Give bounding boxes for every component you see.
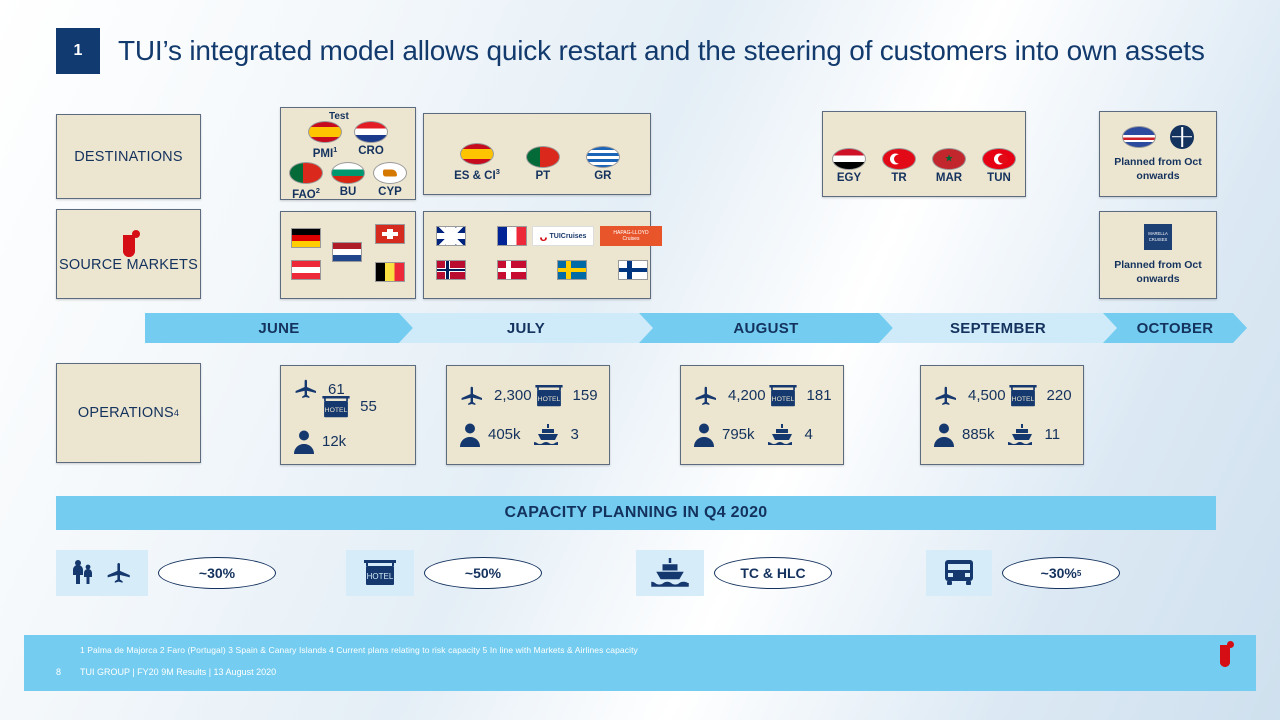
ops-flights: 2,300 [459, 384, 532, 408]
ops-hotels: HOTEL 159 [532, 383, 598, 409]
tui-logo-icon [123, 235, 135, 251]
ship-icon [636, 550, 704, 596]
slide-title-row: 1 TUI’s integrated model allows quick re… [56, 28, 1205, 74]
globe-icon [1170, 125, 1194, 149]
slide-footer: 1 Palma de Majorca 2 Faro (Portugal) 3 S… [24, 635, 1256, 691]
footer-meta-text: TUI GROUP | FY20 9M Results | 13 August … [80, 667, 276, 677]
october-source-note: Planned from Oct onwards [1100, 258, 1216, 286]
svg-text:HOTEL: HOTEL [367, 572, 394, 581]
portugal-flag [289, 162, 323, 184]
destinations-label: DESTINATIONS [57, 115, 200, 198]
destination-item: GR [586, 146, 620, 182]
ops-customers: 12k [293, 429, 348, 454]
tui-footer-logo [1220, 645, 1230, 663]
timeline-august[interactable]: AUGUST [639, 313, 893, 343]
operations-label-sup: 4 [174, 408, 179, 418]
capacity-item-cruises: TC & HLC [636, 550, 926, 596]
destination-item: FAO2 [289, 162, 323, 201]
portugal-flag [526, 146, 560, 168]
timeline-july[interactable]: JULY [399, 313, 653, 343]
ops-hotels: HOTEL 181 [766, 383, 832, 409]
operations-july-panel: 2,300 HOTEL 159 405k 3 [446, 365, 610, 465]
greece-flag [586, 146, 620, 168]
operations-label-panel: OPERATIONS4 [56, 363, 201, 463]
svg-text:HOTEL: HOTEL [771, 396, 794, 403]
operations-june-panel: 61 HOTEL 55 12k [280, 365, 416, 465]
ops-customers: 885k [933, 422, 1006, 447]
test-badge-label: Test [329, 111, 349, 122]
destination-item: ★ MAR [932, 148, 966, 184]
ops-ships: 11 [1006, 423, 1072, 447]
month-timeline: JUNE JULY AUGUST SEPTEMBER OCTOBER [145, 313, 1233, 343]
destination-item: CRO [354, 121, 388, 160]
sweden-flag [557, 260, 587, 280]
capacity-banner: CAPACITY PLANNING IN Q4 2020 [56, 496, 1216, 530]
cyprus-flag [373, 162, 407, 184]
footnotes: 1 Palma de Majorca 2 Faro (Portugal) 3 S… [80, 645, 638, 655]
capacity-value-airlines: ~30% [158, 557, 276, 589]
morocco-flag: ★ [932, 148, 966, 170]
destinations-label-panel: DESTINATIONS [56, 114, 201, 199]
source-markets-july-panel: ᴗTUICruises HAPAG-LLOYD Cruises [423, 211, 651, 299]
slide-canvas: 1 TUI’s integrated model allows quick re… [0, 0, 1280, 720]
destination-item: CYP [373, 162, 407, 201]
ops-grid: 4,200 HOTEL 181 795k 4 [681, 366, 843, 464]
destination-item: TR [882, 148, 916, 184]
source-markets-label-panel: SOURCE MARKETS [56, 209, 201, 299]
timeline-october[interactable]: OCTOBER [1103, 313, 1247, 343]
destinations-july-panel: ES & CI3 PT GR [423, 113, 651, 195]
timeline-september[interactable]: SEPTEMBER [879, 313, 1117, 343]
uk-flag [436, 226, 466, 246]
austria-flag [291, 260, 321, 280]
footer-meta: 8TUI GROUP | FY20 9M Results | 13 August… [48, 667, 276, 677]
destination-item: EGY [832, 148, 866, 184]
ops-hotels: HOTEL 55 [293, 394, 403, 420]
croatia-flag [354, 121, 388, 143]
ops-grid: 2,300 HOTEL 159 405k 3 [447, 366, 609, 464]
ops-ships: 3 [532, 423, 598, 447]
destinations-june-panel: Test PMI1 CRO FAO2 BU [280, 107, 416, 200]
finland-flag [618, 260, 648, 280]
tui-cruises-logo: ᴗTUICruises [532, 226, 594, 246]
hapag-lloyd-logo: HAPAG-LLOYD Cruises [600, 226, 662, 246]
denmark-flag [497, 260, 527, 280]
turkey-flag [882, 148, 916, 170]
ops-hotels: HOTEL 220 [1006, 383, 1072, 409]
page-title: TUI’s integrated model allows quick rest… [118, 35, 1205, 67]
ops-flights: 4,200 [693, 384, 766, 408]
destination-item: TUN [982, 148, 1016, 184]
capacity-row: ~30% HOTEL ~50% TC & HLC ~30%5 [56, 550, 1216, 596]
destination-item: ES & CI3 [454, 143, 500, 182]
destinations-october-panel: Planned from Oct onwards [1099, 111, 1217, 197]
netherlands-flag [332, 242, 362, 262]
svg-text:HOTEL: HOTEL [1011, 396, 1034, 403]
october-destinations-note: Planned from Oct onwards [1100, 155, 1216, 183]
spain-flag [308, 121, 342, 143]
ops-ships: 4 [766, 423, 832, 447]
source-markets-october-panel: MARELLA CRUISES Planned from Oct onwards [1099, 211, 1217, 299]
france-flag [497, 226, 527, 246]
switzerland-flag [375, 224, 405, 244]
svg-text:HOTEL: HOTEL [325, 407, 348, 414]
source-markets-june-panel [280, 211, 416, 299]
destination-item: BU [331, 162, 365, 201]
norway-flag [436, 260, 466, 280]
capacity-item-buses: ~30%5 [926, 550, 1216, 596]
operations-label-wrap: OPERATIONS4 [57, 364, 200, 462]
slide-number-badge: 1 [56, 28, 100, 74]
ops-grid: 4,500 HOTEL 220 885k 11 [921, 366, 1083, 464]
germany-flag [291, 228, 321, 248]
tunisia-flag [982, 148, 1016, 170]
operations-label: OPERATIONS [78, 405, 174, 421]
belgium-flag [375, 262, 405, 282]
operations-august-panel: 4,200 HOTEL 181 795k 4 [680, 365, 844, 465]
svg-text:HOTEL: HOTEL [537, 396, 560, 403]
spain-flag [460, 143, 494, 165]
timeline-june[interactable]: JUNE [145, 313, 413, 343]
destination-item: PMI1 [308, 121, 342, 160]
bus-icon [926, 550, 992, 596]
hotel-icon: HOTEL [346, 550, 414, 596]
capacity-item-airlines: ~30% [56, 550, 346, 596]
source-markets-label-wrap: SOURCE MARKETS [57, 210, 200, 298]
capeverde-flag [1122, 126, 1156, 148]
ops-customers: 795k [693, 422, 766, 447]
capacity-item-hotels: HOTEL ~50% [346, 550, 636, 596]
operations-september-panel: 4,500 HOTEL 220 885k 11 [920, 365, 1084, 465]
source-markets-label: SOURCE MARKETS [59, 257, 198, 273]
capacity-value-cruises: TC & HLC [714, 557, 832, 589]
capacity-value-buses: ~30%5 [1002, 557, 1120, 589]
destinations-september-panel: EGY TR ★ MAR TUN [822, 111, 1026, 197]
ops-flights: 4,500 [933, 384, 1006, 408]
ops-customers: 405k [459, 422, 532, 447]
page-number: 8 [48, 667, 80, 677]
family-plane-icon [56, 550, 148, 596]
ops-grid: 61 HOTEL 55 12k [281, 366, 415, 464]
destination-item: PT [526, 146, 560, 182]
marella-cruises-logo: MARELLA CRUISES [1144, 224, 1172, 250]
egypt-flag [832, 148, 866, 170]
capacity-value-hotels: ~50% [424, 557, 542, 589]
bulgaria-flag [331, 162, 365, 184]
